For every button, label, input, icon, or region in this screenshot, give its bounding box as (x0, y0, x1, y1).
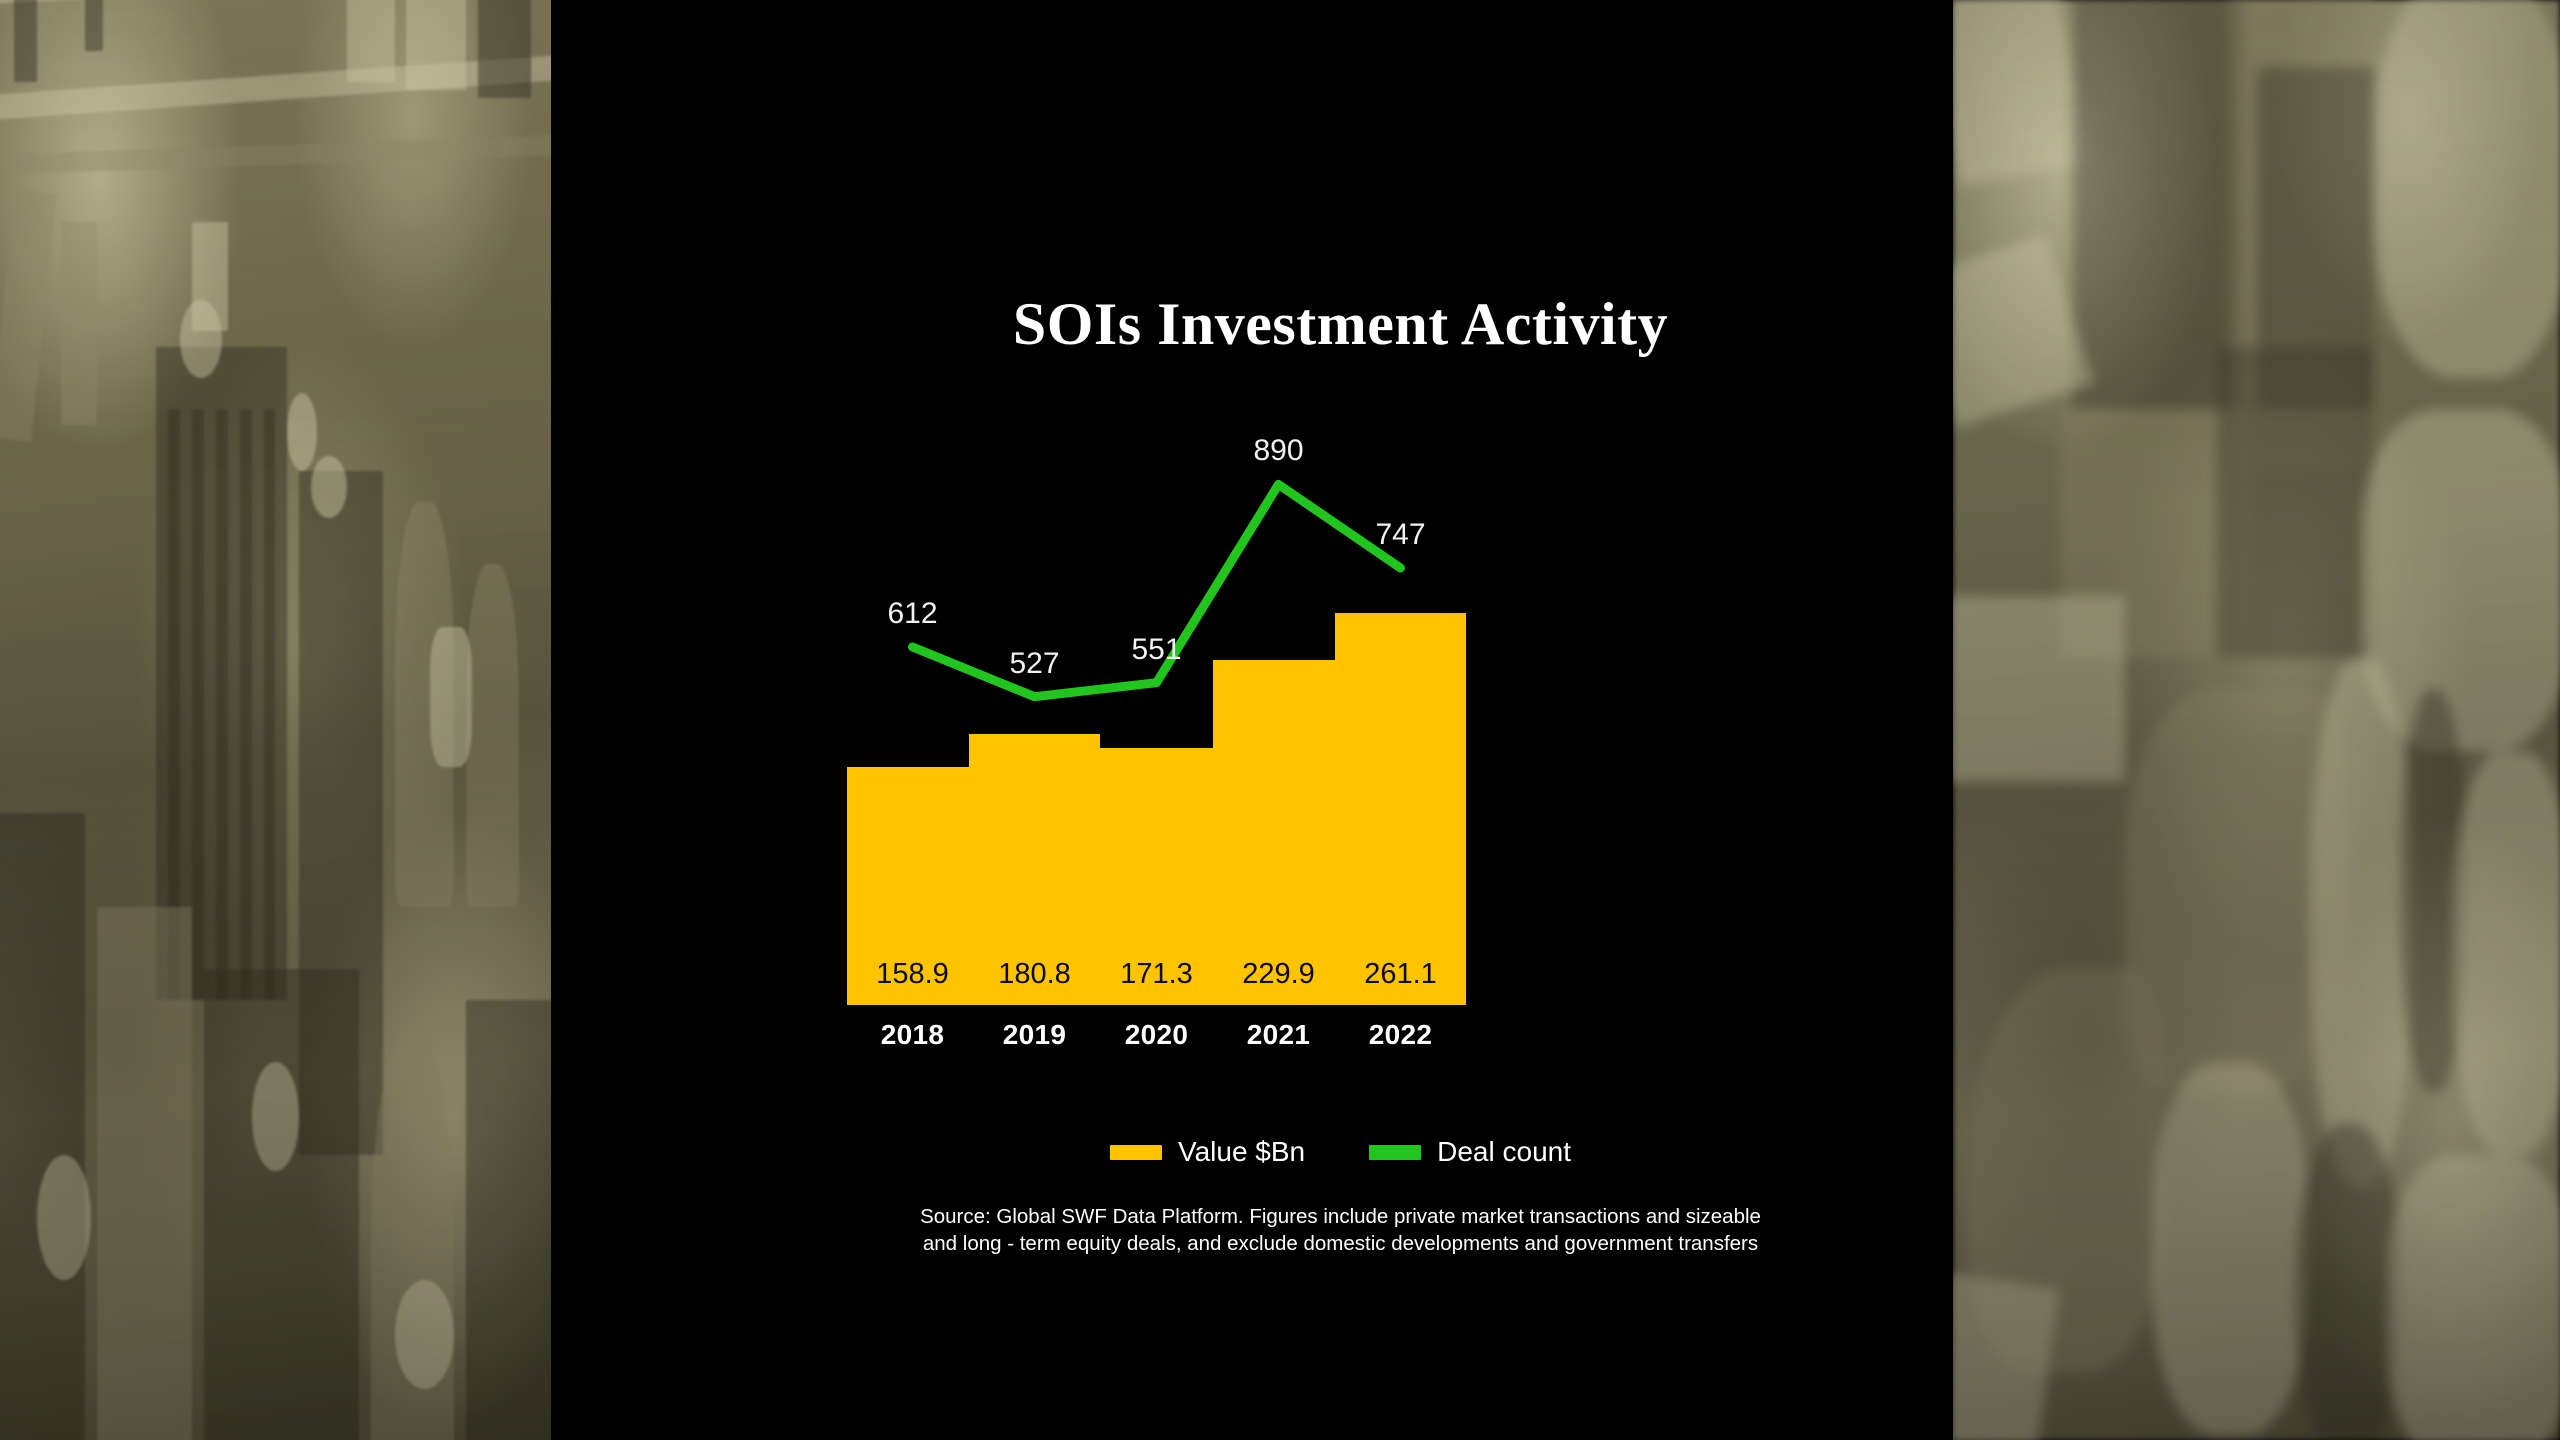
line-value-label-2018: 612 (848, 597, 978, 631)
category-label-2021: 2021 (1213, 1019, 1344, 1051)
category-label-2018: 2018 (847, 1019, 978, 1051)
source-note-line-2: and long - term equity deals, and exclud… (768, 1230, 1913, 1257)
bar-2022: 261.1 (1335, 613, 1466, 1005)
bar-value-label: 229.9 (1213, 958, 1344, 991)
line-value-label-2021: 890 (1214, 434, 1344, 468)
line-value-label-2020: 551 (1092, 633, 1222, 667)
source-note: Source: Global SWF Data Platform. Figure… (728, 1203, 1953, 1257)
chart-panel: SOIs Investment Activity 158.9 180.8 171… (728, 0, 1953, 1440)
bar-2018: 158.9 (847, 767, 978, 1005)
line-value-label-2022: 747 (1336, 518, 1466, 552)
category-label-2022: 2022 (1335, 1019, 1466, 1051)
legend-item-deal-count[interactable]: Deal count (1369, 1136, 1571, 1168)
legend-swatch-deal-count-icon (1369, 1145, 1421, 1160)
line-value-label-2019: 527 (970, 647, 1100, 681)
bar-value-label: 171.3 (1091, 958, 1222, 991)
background-photo-left (0, 0, 551, 1440)
bar-2020: 171.3 (1091, 748, 1222, 1005)
legend-swatch-value-icon (1110, 1145, 1162, 1160)
legend-item-value[interactable]: Value $Bn (1110, 1136, 1305, 1168)
category-label-2020: 2020 (1091, 1019, 1222, 1051)
category-label-2019: 2019 (969, 1019, 1100, 1051)
slide-canvas: SOIs Investment Activity 158.9 180.8 171… (0, 0, 2560, 1440)
legend-label-value: Value $Bn (1178, 1136, 1305, 1168)
cream-accent-strip (551, 0, 728, 1440)
source-note-line-1: Source: Global SWF Data Platform. Figure… (768, 1203, 1913, 1230)
bar-2021: 229.9 (1213, 660, 1344, 1005)
photo-right-scrim (1953, 0, 2560, 1440)
bar-value-label: 261.1 (1335, 958, 1466, 991)
legend-label-deal-count: Deal count (1437, 1136, 1571, 1168)
photo-left-scrim (0, 0, 551, 1440)
chart-legend: Value $Bn Deal count (728, 1136, 1953, 1168)
background-photo-right (1953, 0, 2560, 1440)
bar-value-label: 180.8 (969, 958, 1100, 991)
bar-value-label: 158.9 (847, 958, 978, 991)
bar-2019: 180.8 (969, 734, 1100, 1005)
